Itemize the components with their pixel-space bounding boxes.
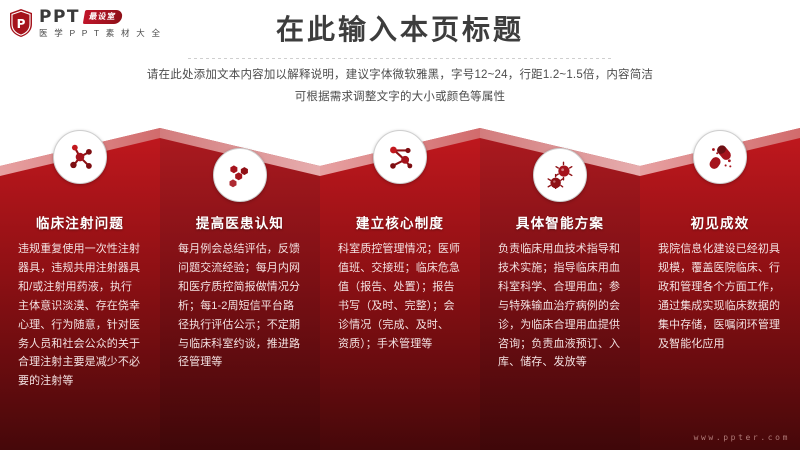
ribbon-columns: 临床注射问题 违规重复使用一次性注射器具，违规共用注射器具和/或注射用药液，执行… [0,128,800,450]
ribbon-column-2[interactable]: 提高医患认知 每月例会总结评估，反馈问题交流经验；每月内网和医疗质控简报做情况分… [160,128,320,450]
ribbon-column-5[interactable]: 初见成效 我院信息化建设已经初具规模，覆盖医院临床、行政和管理各个方面工作，通过… [640,128,800,450]
ribbon-text-5: 我院信息化建设已经初具规模，覆盖医院临床、行政和管理各个方面工作，通过集成实现临… [658,240,782,353]
capsule-pill-icon [693,130,747,184]
ribbon-label-5: 初见成效 [640,212,800,232]
molecule-icon [53,130,107,184]
title-divider [188,58,612,59]
page-subtitle: 请在此处添加文本内容加以解释说明，建议字体微软雅黑，字号12~24，行距1.2~… [0,64,800,109]
ribbon-label-1: 临床注射问题 [0,212,160,232]
site-watermark: www.ppter.com [694,433,790,442]
ribbon-label-2: 提高医患认知 [160,212,320,232]
ribbon-text-2: 每月例会总结评估，反馈问题交流经验；每月内网和医疗质控简报做情况分析；每1-2周… [178,240,302,372]
subtitle-line-1: 请在此处添加文本内容加以解释说明，建议字体微软雅黑，字号12~24，行距1.2~… [0,64,800,86]
share-network-icon [373,130,427,184]
virus-cell-icon [533,148,587,202]
subtitle-line-2: 可根据需求调整文字的大小或颜色等属性 [0,86,800,108]
ribbon-label-4: 具体智能方案 [480,212,640,232]
page-title: 在此输入本页标题 [0,14,800,46]
slide-canvas: P PPT 最设室 医 学 P P T 素 材 大 全 在此输入本页标题 请在此… [0,0,800,450]
ribbon-text-4: 负责临床用血技术指导和技术实施；指导临床用血科室科学、合理用血；参与特殊输血治疗… [498,240,622,372]
ribbon-text-3: 科室质控管理情况；医师值班、交接班；临床危急值（报告、处置）；报告书写（及时、完… [338,240,462,353]
hexagon-cluster-icon [213,148,267,202]
ribbon-text-1: 违规重复使用一次性注射器具，违规共用注射器具和/或注射用药液，执行主体意识淡漠、… [18,240,142,391]
ribbon-column-3[interactable]: 建立核心制度 科室质控管理情况；医师值班、交接班；临床危急值（报告、处置）；报告… [320,128,480,450]
ribbon-column-1[interactable]: 临床注射问题 违规重复使用一次性注射器具，违规共用注射器具和/或注射用药液，执行… [0,128,160,450]
ribbon-column-4[interactable]: 具体智能方案 负责临床用血技术指导和技术实施；指导临床用血科室科学、合理用血；参… [480,128,640,450]
ribbon-label-3: 建立核心制度 [320,212,480,232]
